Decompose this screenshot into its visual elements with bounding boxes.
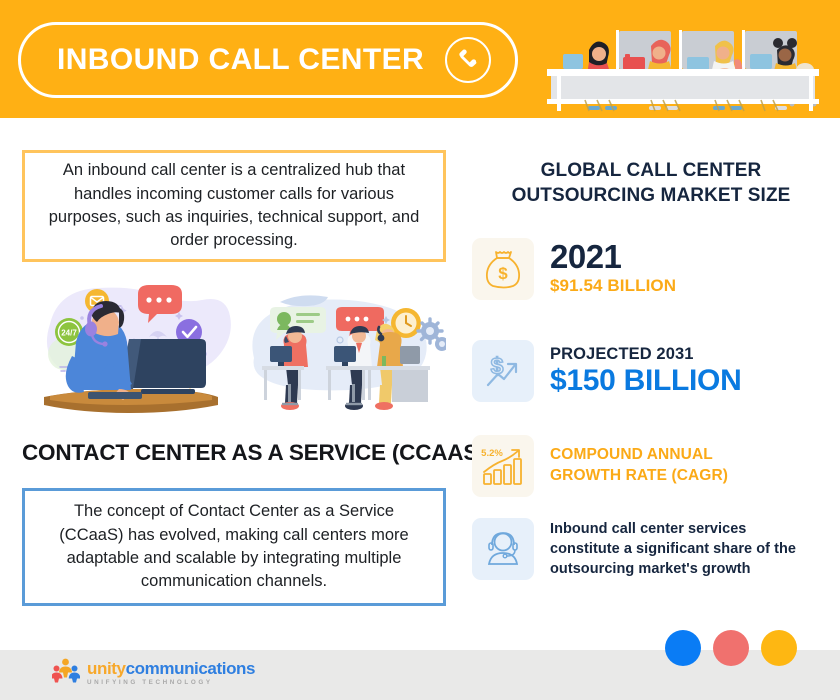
money-bag-icon: $ bbox=[472, 238, 534, 300]
infographic-page: INBOUND CALL CENTER bbox=[0, 0, 840, 700]
phone-handset-icon bbox=[445, 37, 491, 83]
stat-2021-value: $91.54 BILLION bbox=[550, 273, 676, 299]
stat-2031: $ PROJECTED 2031 $150 BILLION bbox=[472, 340, 741, 402]
dot-coral bbox=[713, 630, 749, 666]
footer-logo-name: unitycommunications bbox=[87, 660, 255, 677]
footer-logo-name-communications: communications bbox=[126, 659, 255, 678]
ccaas-heading: CONTACT CENTER AS A SERVICE (CCAAS) bbox=[22, 440, 446, 466]
unity-people-logo-icon bbox=[52, 658, 80, 689]
cagr-icon-value: 5.2% bbox=[481, 448, 503, 459]
footer-logo[interactable]: unitycommunications UNIFYING TECHNOLOGY bbox=[52, 658, 255, 689]
stat-cagr: 5.2% COMPOUND ANNUAL GROWTH RATE (CAGR) bbox=[472, 435, 728, 497]
stat-share: Inbound call center services constitute … bbox=[472, 518, 802, 580]
stat-2031-body: PROJECTED 2031 $150 BILLION bbox=[550, 344, 741, 397]
stat-2021: $ 2021 $91.54 BILLION bbox=[472, 238, 676, 300]
footer-dots bbox=[665, 630, 797, 666]
stat-cagr-body: COMPOUND ANNUAL GROWTH RATE (CAGR) bbox=[550, 445, 728, 487]
definition-card: An inbound call center is a centralized … bbox=[22, 150, 446, 262]
footer-logo-tagline: UNIFYING TECHNOLOGY bbox=[87, 680, 255, 686]
footer-logo-name-unity: unity bbox=[87, 659, 126, 678]
stat-2031-value: $150 BILLION bbox=[550, 365, 741, 397]
dollar-growth-arrow-icon: $ bbox=[472, 340, 534, 402]
svg-text:24/7: 24/7 bbox=[61, 329, 77, 338]
stat-2021-year: 2021 bbox=[550, 240, 676, 273]
stat-cagr-line2: GROWTH RATE (CAGR) bbox=[550, 466, 728, 487]
page-title: INBOUND CALL CENTER bbox=[57, 43, 424, 77]
title-pill: INBOUND CALL CENTER bbox=[18, 22, 518, 98]
svg-text:$: $ bbox=[498, 264, 508, 283]
ccaas-card: The concept of Contact Center as a Servi… bbox=[22, 488, 446, 606]
header-banner: INBOUND CALL CENTER bbox=[0, 0, 840, 118]
support-agent-headset-illustration: 24/7 bbox=[22, 272, 237, 430]
definition-text: An inbound call center is a centralized … bbox=[47, 159, 421, 253]
header-illustration bbox=[533, 10, 833, 116]
market-size-heading-line1: GLOBAL CALL CENTER bbox=[466, 158, 836, 183]
market-size-heading: GLOBAL CALL CENTER OUTSOURCING MARKET SI… bbox=[466, 158, 836, 208]
stat-share-body: Inbound call center services constitute … bbox=[550, 519, 802, 579]
stat-2031-label: PROJECTED 2031 bbox=[550, 344, 741, 365]
stat-share-text: Inbound call center services constitute … bbox=[550, 519, 802, 579]
call-center-team-illustration bbox=[240, 286, 446, 418]
ccaas-text: The concept of Contact Center as a Servi… bbox=[45, 500, 423, 594]
illustration-row: 24/7 bbox=[22, 272, 446, 430]
dot-orange bbox=[761, 630, 797, 666]
bar-chart-growth-icon: 5.2% bbox=[472, 435, 534, 497]
dot-blue bbox=[665, 630, 701, 666]
market-size-heading-line2: OUTSOURCING MARKET SIZE bbox=[466, 183, 836, 208]
stat-cagr-line1: COMPOUND ANNUAL bbox=[550, 445, 728, 466]
stat-2021-body: 2021 $91.54 BILLION bbox=[550, 240, 676, 299]
headset-person-icon bbox=[472, 518, 534, 580]
footer-logo-text: unitycommunications UNIFYING TECHNOLOGY bbox=[87, 660, 255, 686]
